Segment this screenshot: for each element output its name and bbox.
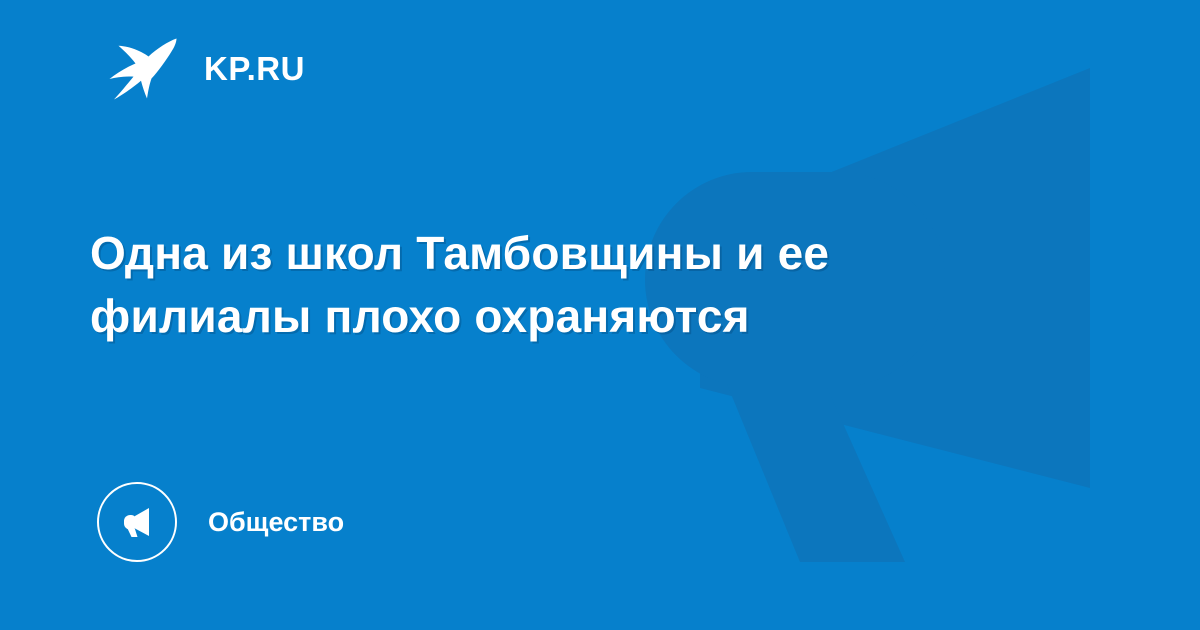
swallow-bird-logo-icon[interactable]	[108, 36, 182, 100]
brand-wordmark[interactable]: KP.RU	[204, 52, 305, 85]
category-label[interactable]: Общество	[208, 509, 344, 536]
site-header: KP.RU	[108, 36, 305, 100]
article-share-card: KP.RU Одна из школ Тамбовщины и ее филиа…	[0, 0, 1200, 630]
category-icon-circle	[97, 482, 177, 562]
category-badge[interactable]: Общество	[97, 482, 344, 562]
page-title: Одна из школ Тамбовщины и ее филиалы пло…	[90, 222, 1050, 348]
megaphone-icon	[115, 500, 159, 544]
